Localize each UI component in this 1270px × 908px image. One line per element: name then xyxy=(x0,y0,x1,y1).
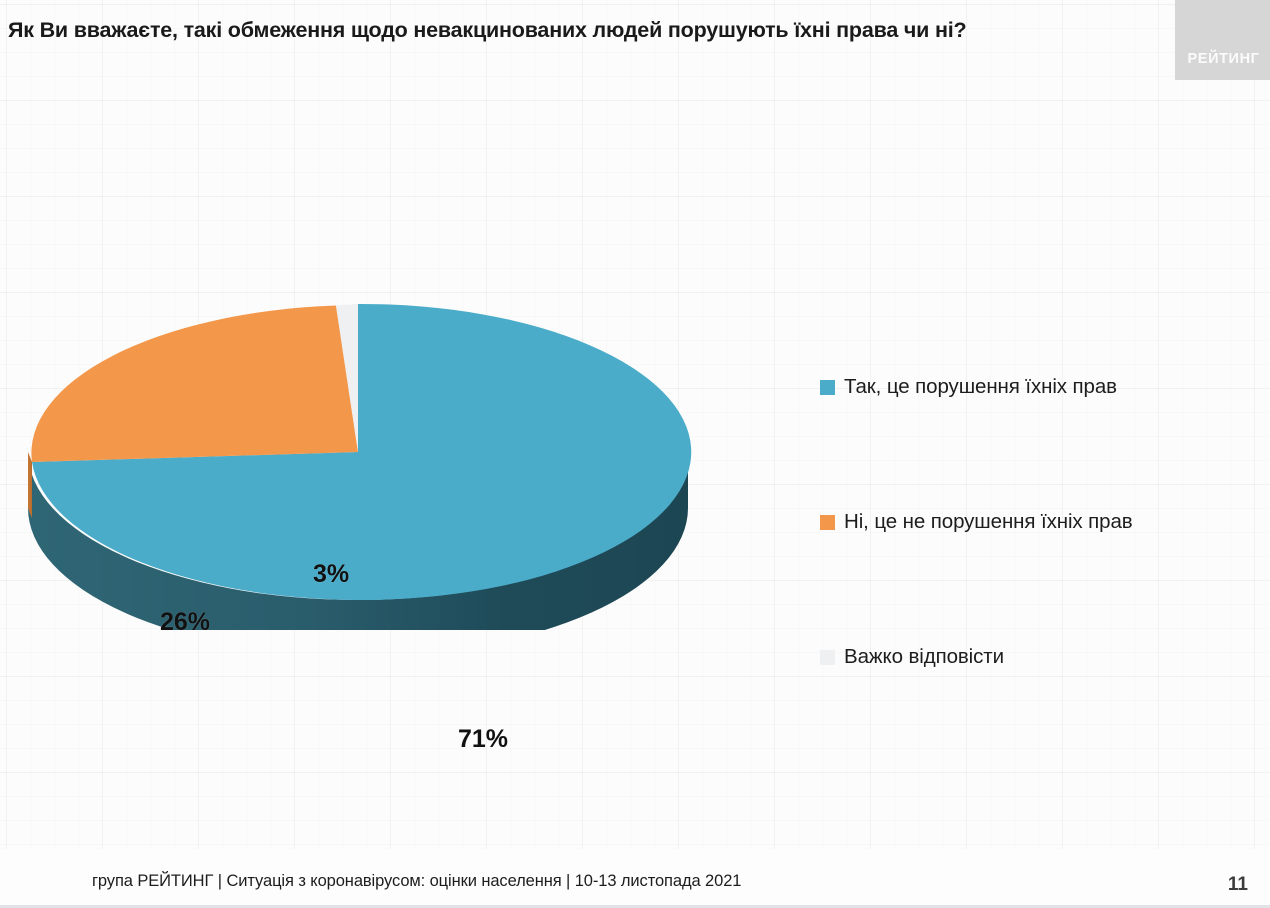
pie-chart: 71% 26% 3% xyxy=(18,270,698,630)
orange-side-wall xyxy=(28,452,32,518)
legend-label-yes: Так, це порушення їхніх прав xyxy=(844,375,1117,399)
page-number: 11 xyxy=(1228,874,1248,896)
pie-top-face xyxy=(31,304,691,600)
legend-swatch-no xyxy=(820,515,835,530)
brand-logo-box: РЕЙТИНГ xyxy=(1175,0,1270,80)
legend-swatch-hard-to-answer xyxy=(820,650,835,665)
legend-item-yes[interactable]: Так, це порушення їхніх прав xyxy=(820,373,1117,401)
legend-label-no: Ні, це не порушення їхніх прав xyxy=(844,510,1133,534)
slice-no[interactable] xyxy=(31,306,358,463)
legend-swatch-yes xyxy=(820,380,835,395)
legend-item-hard-to-answer[interactable]: Важко відповісти xyxy=(820,643,1004,671)
page-title: Як Ви вважаєте, такі обмеження щодо нева… xyxy=(8,18,1158,43)
slice-value-label-hard-to-answer: 3% xyxy=(313,560,349,589)
slice-value-label-yes: 71% xyxy=(458,725,508,754)
brand-logo-text: РЕЙТИНГ xyxy=(1177,51,1270,67)
legend-item-no[interactable]: Ні, це не порушення їхніх прав xyxy=(820,508,1133,536)
pie-chart-svg xyxy=(18,270,698,630)
slice-value-label-no: 26% xyxy=(160,608,210,637)
legend-label-hard-to-answer: Важко відповісти xyxy=(844,645,1004,669)
footer-source-text: група РЕЙТИНГ | Ситуація з коронавірусом… xyxy=(92,872,741,891)
slide-canvas: Як Ви вважаєте, такі обмеження щодо нева… xyxy=(0,0,1270,908)
